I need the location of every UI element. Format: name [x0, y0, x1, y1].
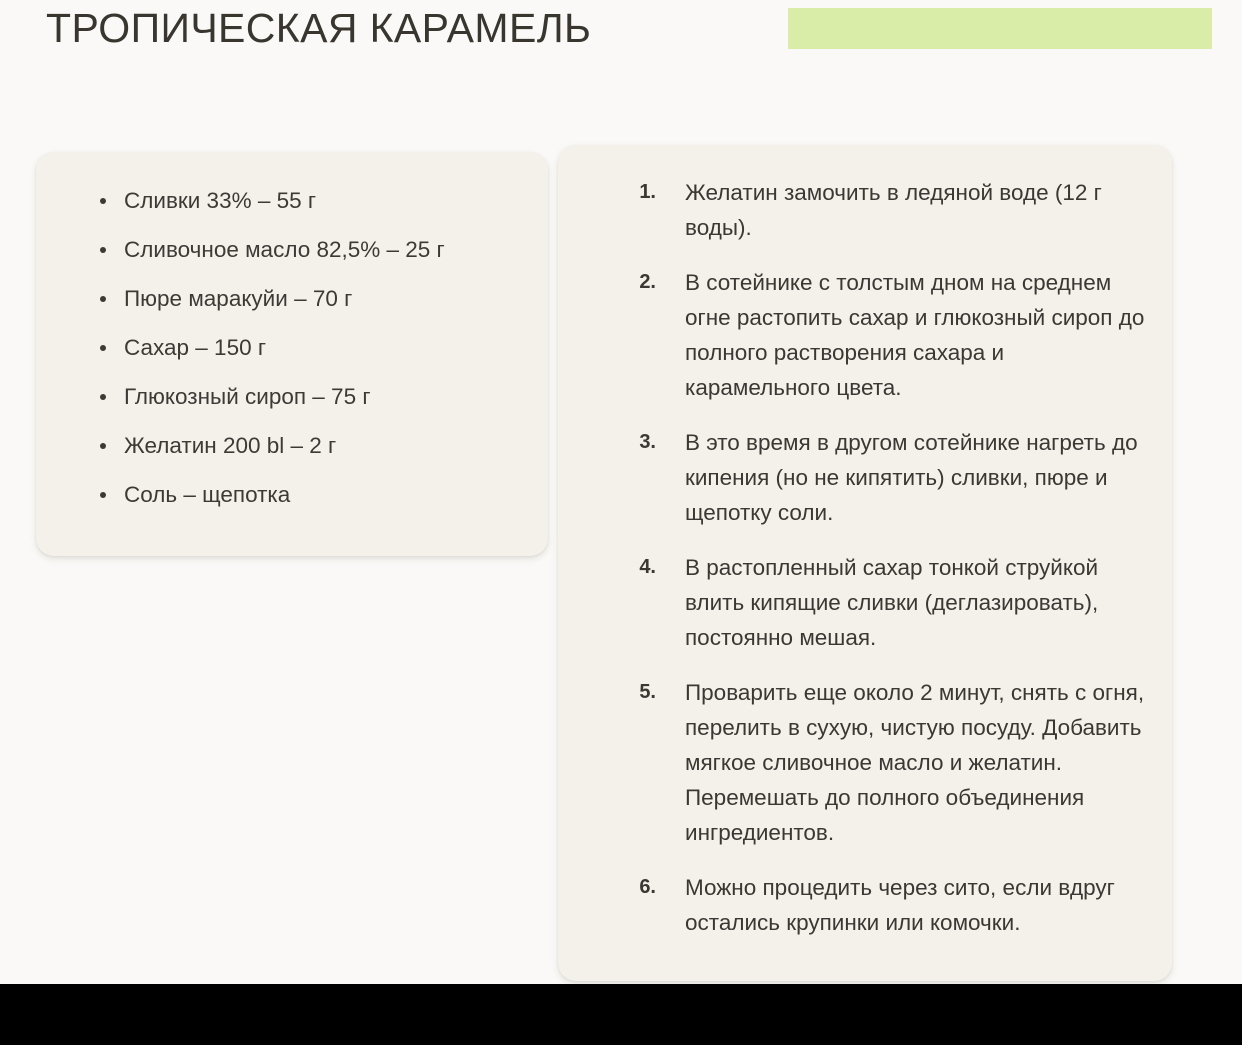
steps-list: 1. Желатин замочить в ледяной воде (12 г…	[598, 175, 1146, 940]
list-item: 6. Можно процедить через сито, если вдру…	[598, 870, 1146, 940]
list-item: 2. В сотейнике с толстым дном на среднем…	[598, 265, 1146, 405]
list-item: 3. В это время в другом сотейнике нагрет…	[598, 425, 1146, 530]
bullet-icon	[100, 296, 106, 302]
bullet-icon	[100, 394, 106, 400]
step-text: В это время в другом сотейнике нагреть д…	[685, 425, 1146, 530]
step-number: 4.	[598, 550, 656, 585]
list-item: Глюкозный сироп – 75 г	[96, 382, 530, 412]
ingredient-text: Пюре маракуйи – 70 г	[124, 286, 352, 311]
list-item: Соль – щепотка	[96, 480, 530, 510]
list-item: Пюре маракуйи – 70 г	[96, 284, 530, 314]
step-number: 5.	[598, 675, 656, 710]
ingredient-text: Соль – щепотка	[124, 482, 290, 507]
list-item: Сливочное масло 82,5% – 25 г	[96, 235, 530, 265]
step-text: Желатин замочить в ледяной воде (12 г во…	[685, 175, 1146, 245]
page-title: ТРОПИЧЕСКАЯ КАРАМЕЛЬ	[46, 2, 591, 54]
step-text: В растопленный сахар тонкой струйкой вли…	[685, 550, 1146, 655]
ingredient-text: Желатин 200 bl – 2 г	[124, 433, 336, 458]
list-item: Сахар – 150 г	[96, 333, 530, 363]
ingredient-text: Сливки 33% – 55 г	[124, 188, 316, 213]
bullet-icon	[100, 247, 106, 253]
step-number: 1.	[598, 175, 656, 210]
bullet-icon	[100, 443, 106, 449]
step-number: 3.	[598, 425, 656, 460]
title-row: ТРОПИЧЕСКАЯ КАРАМЕЛЬ	[0, 0, 1242, 60]
steps-card: 1. Желатин замочить в ледяной воде (12 г…	[558, 145, 1172, 981]
ingredient-text: Сахар – 150 г	[124, 335, 266, 360]
bottom-letterbox-bar	[0, 984, 1242, 1045]
step-text: Можно процедить через сито, если вдруг о…	[685, 870, 1146, 940]
step-text: В сотейнике с толстым дном на среднем ог…	[685, 265, 1146, 405]
accent-bar	[788, 8, 1212, 49]
ingredient-text: Глюкозный сироп – 75 г	[124, 384, 371, 409]
step-text: Проварить еще около 2 минут, снять с огн…	[685, 675, 1146, 850]
recipe-slide: ТРОПИЧЕСКАЯ КАРАМЕЛЬ Сливки 33% – 55 г С…	[0, 0, 1242, 984]
list-item: 4. В растопленный сахар тонкой струйкой …	[598, 550, 1146, 655]
bullet-icon	[100, 492, 106, 498]
list-item: 5. Проварить еще около 2 минут, снять с …	[598, 675, 1146, 850]
ingredient-text: Сливочное масло 82,5% – 25 г	[124, 237, 445, 262]
ingredients-list: Сливки 33% – 55 г Сливочное масло 82,5% …	[96, 186, 530, 510]
list-item: 1. Желатин замочить в ледяной воде (12 г…	[598, 175, 1146, 245]
step-number: 2.	[598, 265, 656, 300]
ingredients-card: Сливки 33% – 55 г Сливочное масло 82,5% …	[36, 152, 548, 556]
bullet-icon	[100, 345, 106, 351]
step-number: 6.	[598, 870, 656, 905]
list-item: Сливки 33% – 55 г	[96, 186, 530, 216]
list-item: Желатин 200 bl – 2 г	[96, 431, 530, 461]
bullet-icon	[100, 198, 106, 204]
